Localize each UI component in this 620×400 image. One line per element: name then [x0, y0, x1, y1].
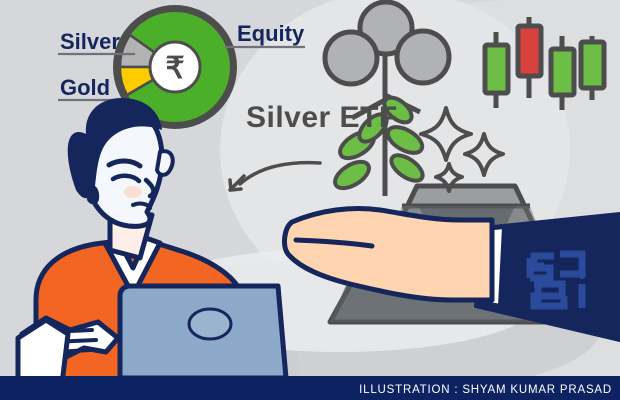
credit-text: ILLUSTRATION : SHYAM KUMAR PRASAD	[359, 384, 612, 396]
plant-coin-left	[325, 32, 377, 84]
candlestick-4	[581, 36, 604, 100]
scene-svg: ₹ Silver Gold Equity Silver ETF	[0, 0, 620, 400]
laptop	[120, 286, 286, 378]
rupee-symbol: ₹	[165, 52, 184, 85]
person-cheek	[124, 186, 142, 198]
laptop-logo	[189, 309, 231, 339]
label-equity: Equity	[237, 21, 305, 46]
sebi-logo	[520, 244, 596, 318]
person-ear	[157, 151, 173, 175]
headline-silver-etf: Silver ETF	[246, 101, 398, 134]
label-silver: Silver	[60, 29, 120, 54]
label-gold: Gold	[60, 75, 110, 100]
plant-coin-right	[397, 31, 449, 83]
illustration-canvas: ₹ Silver Gold Equity Silver ETF	[0, 0, 620, 400]
